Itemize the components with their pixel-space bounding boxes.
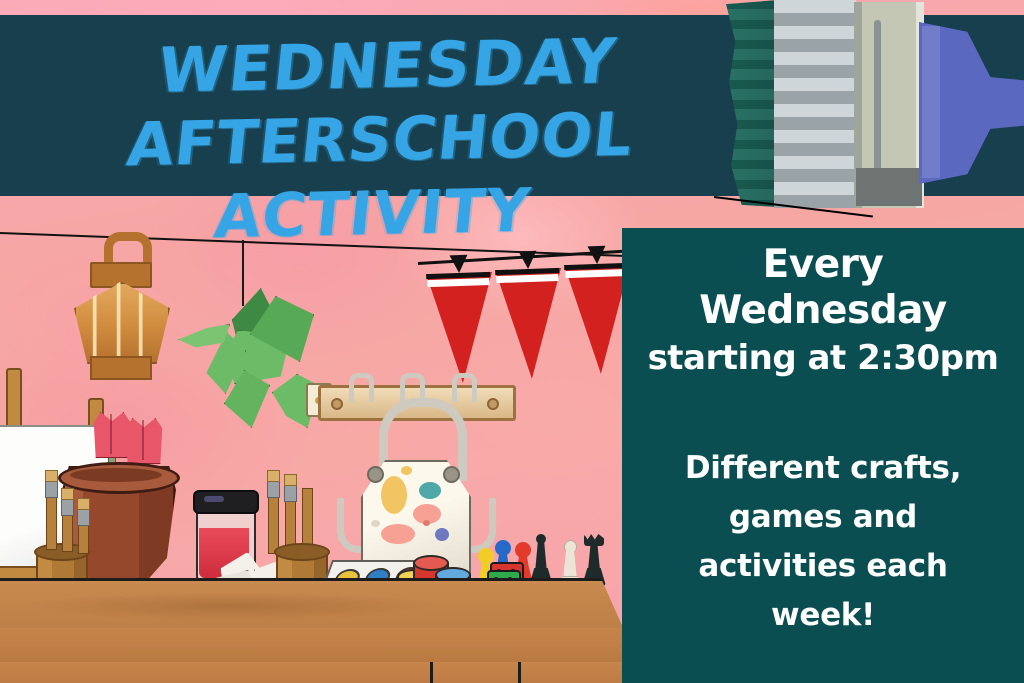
table-leg: [518, 662, 521, 683]
brush-tip: [284, 474, 297, 486]
paint-splatter: [419, 482, 441, 499]
jar-lid: [193, 490, 259, 514]
tulip-fold: [110, 414, 112, 454]
origami-dragon: [178, 288, 318, 428]
poster-title: WEDNESDAY AFTERSCHOOL ACTIVITY: [0, 21, 772, 259]
paint-splatter: [435, 528, 449, 541]
flag-hanger: [518, 251, 537, 270]
panel-heading: Every Wednesday: [638, 242, 1008, 334]
pot-rim-inner: [70, 468, 162, 482]
brush-handle: [62, 510, 73, 552]
brush-handle-highlight: [922, 26, 940, 178]
tulip-fold: [142, 420, 144, 460]
tulip-bloom: [120, 418, 168, 464]
flag-hanger: [449, 255, 468, 274]
paint-splatter: [381, 524, 415, 544]
flag-triangle: [495, 268, 565, 380]
rack-screw: [487, 398, 499, 410]
panel-subheading: starting at 2:30pm: [638, 336, 1008, 380]
flag-triangle: [426, 272, 496, 384]
brush-handle: [268, 496, 279, 554]
lantern-ribs: [74, 282, 166, 360]
table-leg: [430, 662, 433, 683]
flag-hanger: [587, 246, 606, 265]
panel-body-text: Different crafts, games and activities e…: [638, 444, 1008, 640]
paintbrush-small: [62, 496, 71, 552]
paintbrush-small: [46, 478, 55, 550]
paint-splatter: [423, 520, 430, 526]
bunting-flag: [495, 268, 563, 380]
brush-ferrule-shadow: [856, 168, 922, 206]
rack-screw: [331, 398, 343, 410]
bunting-flag: [426, 272, 494, 384]
jar-lid-highlight: [204, 496, 224, 502]
paint-apron: [355, 398, 473, 573]
paint-splatter: [371, 520, 380, 527]
info-panel-content: Every Wednesday starting at 2:30pm Diffe…: [622, 228, 1024, 640]
paintbrush-icon: [726, 0, 1024, 215]
brush-tip: [45, 470, 58, 482]
table-shadow: [20, 592, 440, 620]
craft-table-underside: [0, 662, 624, 683]
apron-grommet: [443, 466, 460, 483]
brush-ferrule-striped: [774, 0, 856, 208]
brush-cup-rim: [274, 543, 330, 561]
brush-handle: [46, 496, 57, 550]
craft-table-edge: [0, 628, 648, 665]
info-panel: Every Wednesday starting at 2:30pm Diffe…: [622, 228, 1024, 683]
paint-splatter: [381, 476, 407, 514]
brush-bristle-texture: [726, 0, 778, 207]
brush-tip: [267, 470, 280, 482]
brush-tip: [77, 498, 90, 510]
paintbrush-tall: [268, 478, 277, 554]
apron-grommet: [367, 466, 384, 483]
poster-canvas: WEDNESDAY AFTERSCHOOL ACTIVITY Every Wed…: [0, 0, 1024, 683]
paintbrush-small: [78, 506, 87, 554]
lantern-base: [90, 356, 152, 380]
brush-tip: [61, 488, 74, 500]
paint-splatter: [401, 466, 412, 475]
